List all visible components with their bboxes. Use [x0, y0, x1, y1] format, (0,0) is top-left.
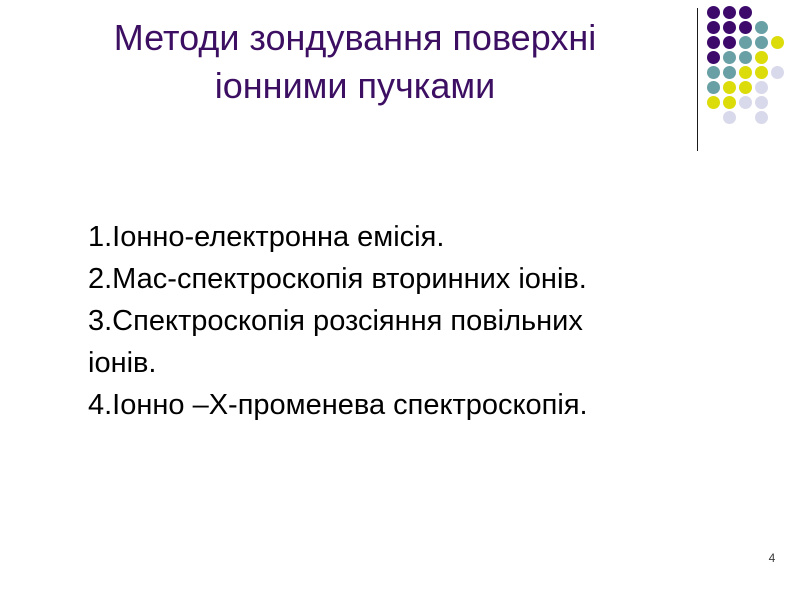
decor-dot-yellow	[739, 66, 752, 79]
decor-dot-yellow	[755, 51, 768, 64]
decorative-dot-motif	[697, 6, 800, 151]
slide-title: Методи зондування поверхні іонними пучка…	[30, 14, 680, 110]
decor-dot-yellow	[771, 36, 784, 49]
decor-dot-teal	[723, 51, 736, 64]
decor-dot-teal	[755, 21, 768, 34]
decor-dot-purple	[707, 36, 720, 49]
decor-dot-teal	[723, 66, 736, 79]
decor-dot-purple	[723, 36, 736, 49]
decor-dot-purple	[723, 21, 736, 34]
decor-dot-purple	[723, 6, 736, 19]
decor-dot-teal	[739, 51, 752, 64]
decor-dot-lavender	[739, 96, 752, 109]
decor-dot-yellow	[739, 81, 752, 94]
decor-dot-yellow	[723, 96, 736, 109]
decor-dot-lavender	[723, 111, 736, 124]
decor-dot-teal	[755, 36, 768, 49]
body-line-4: іонів.	[88, 342, 728, 384]
slide-title-line-2: іонними пучками	[30, 62, 680, 110]
decor-dot-purple	[739, 21, 752, 34]
decor-dot-purple	[707, 51, 720, 64]
decor-dot-lavender	[755, 96, 768, 109]
decor-dot-teal	[739, 36, 752, 49]
decor-dot-yellow	[707, 96, 720, 109]
decor-dot-lavender	[755, 81, 768, 94]
decor-dot-lavender	[755, 111, 768, 124]
slide-body-list: 1.Іонно-електронна емісія. 2.Мас-спектро…	[88, 216, 728, 426]
slide-canvas: Методи зондування поверхні іонними пучка…	[0, 0, 800, 600]
body-line-1: 1.Іонно-електронна емісія.	[88, 216, 728, 258]
decor-dot-purple	[707, 21, 720, 34]
decor-dot-yellow	[755, 66, 768, 79]
decor-dot-purple	[739, 6, 752, 19]
slide-title-line-1: Методи зондування поверхні	[30, 14, 680, 62]
decor-dot-teal	[707, 81, 720, 94]
decor-dot-yellow	[723, 81, 736, 94]
page-number: 4	[760, 551, 784, 565]
decor-dot-purple	[707, 6, 720, 19]
decor-dot-teal	[707, 66, 720, 79]
vertical-divider-rule	[697, 8, 698, 151]
body-line-2: 2.Мас-спектроскопія вторинних іонів.	[88, 258, 728, 300]
body-line-5: 4.Іонно –Х-променева спектроскопія.	[88, 384, 728, 426]
decor-dot-lavender	[771, 66, 784, 79]
body-line-3: 3.Спектроскопія розсіяння повільних	[88, 300, 728, 342]
dot-grid	[707, 6, 800, 146]
